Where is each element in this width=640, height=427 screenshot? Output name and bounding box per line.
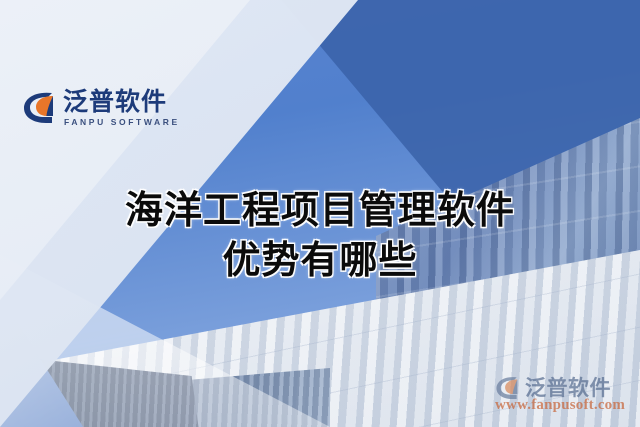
pixel-tower [68, 24, 100, 96]
fanpu-logo: 泛普软件 FANPU SOFTWARE [22, 88, 157, 132]
watermark: 泛普软件 www.fanpusoft.com [495, 372, 640, 420]
pixel-skyline-icon [38, 14, 158, 96]
logo-brand-cn: 泛普软件 [63, 87, 167, 117]
logo-brand-en: FANPU SOFTWARE [64, 117, 180, 127]
watermark-url: www.fanpusoft.com [495, 397, 625, 414]
fanpu-swoosh-logo-icon [22, 90, 58, 124]
banner-image: 泛普软件 FANPU SOFTWARE 海洋工程项目管理软件 优势有哪些 泛普软… [0, 0, 640, 427]
